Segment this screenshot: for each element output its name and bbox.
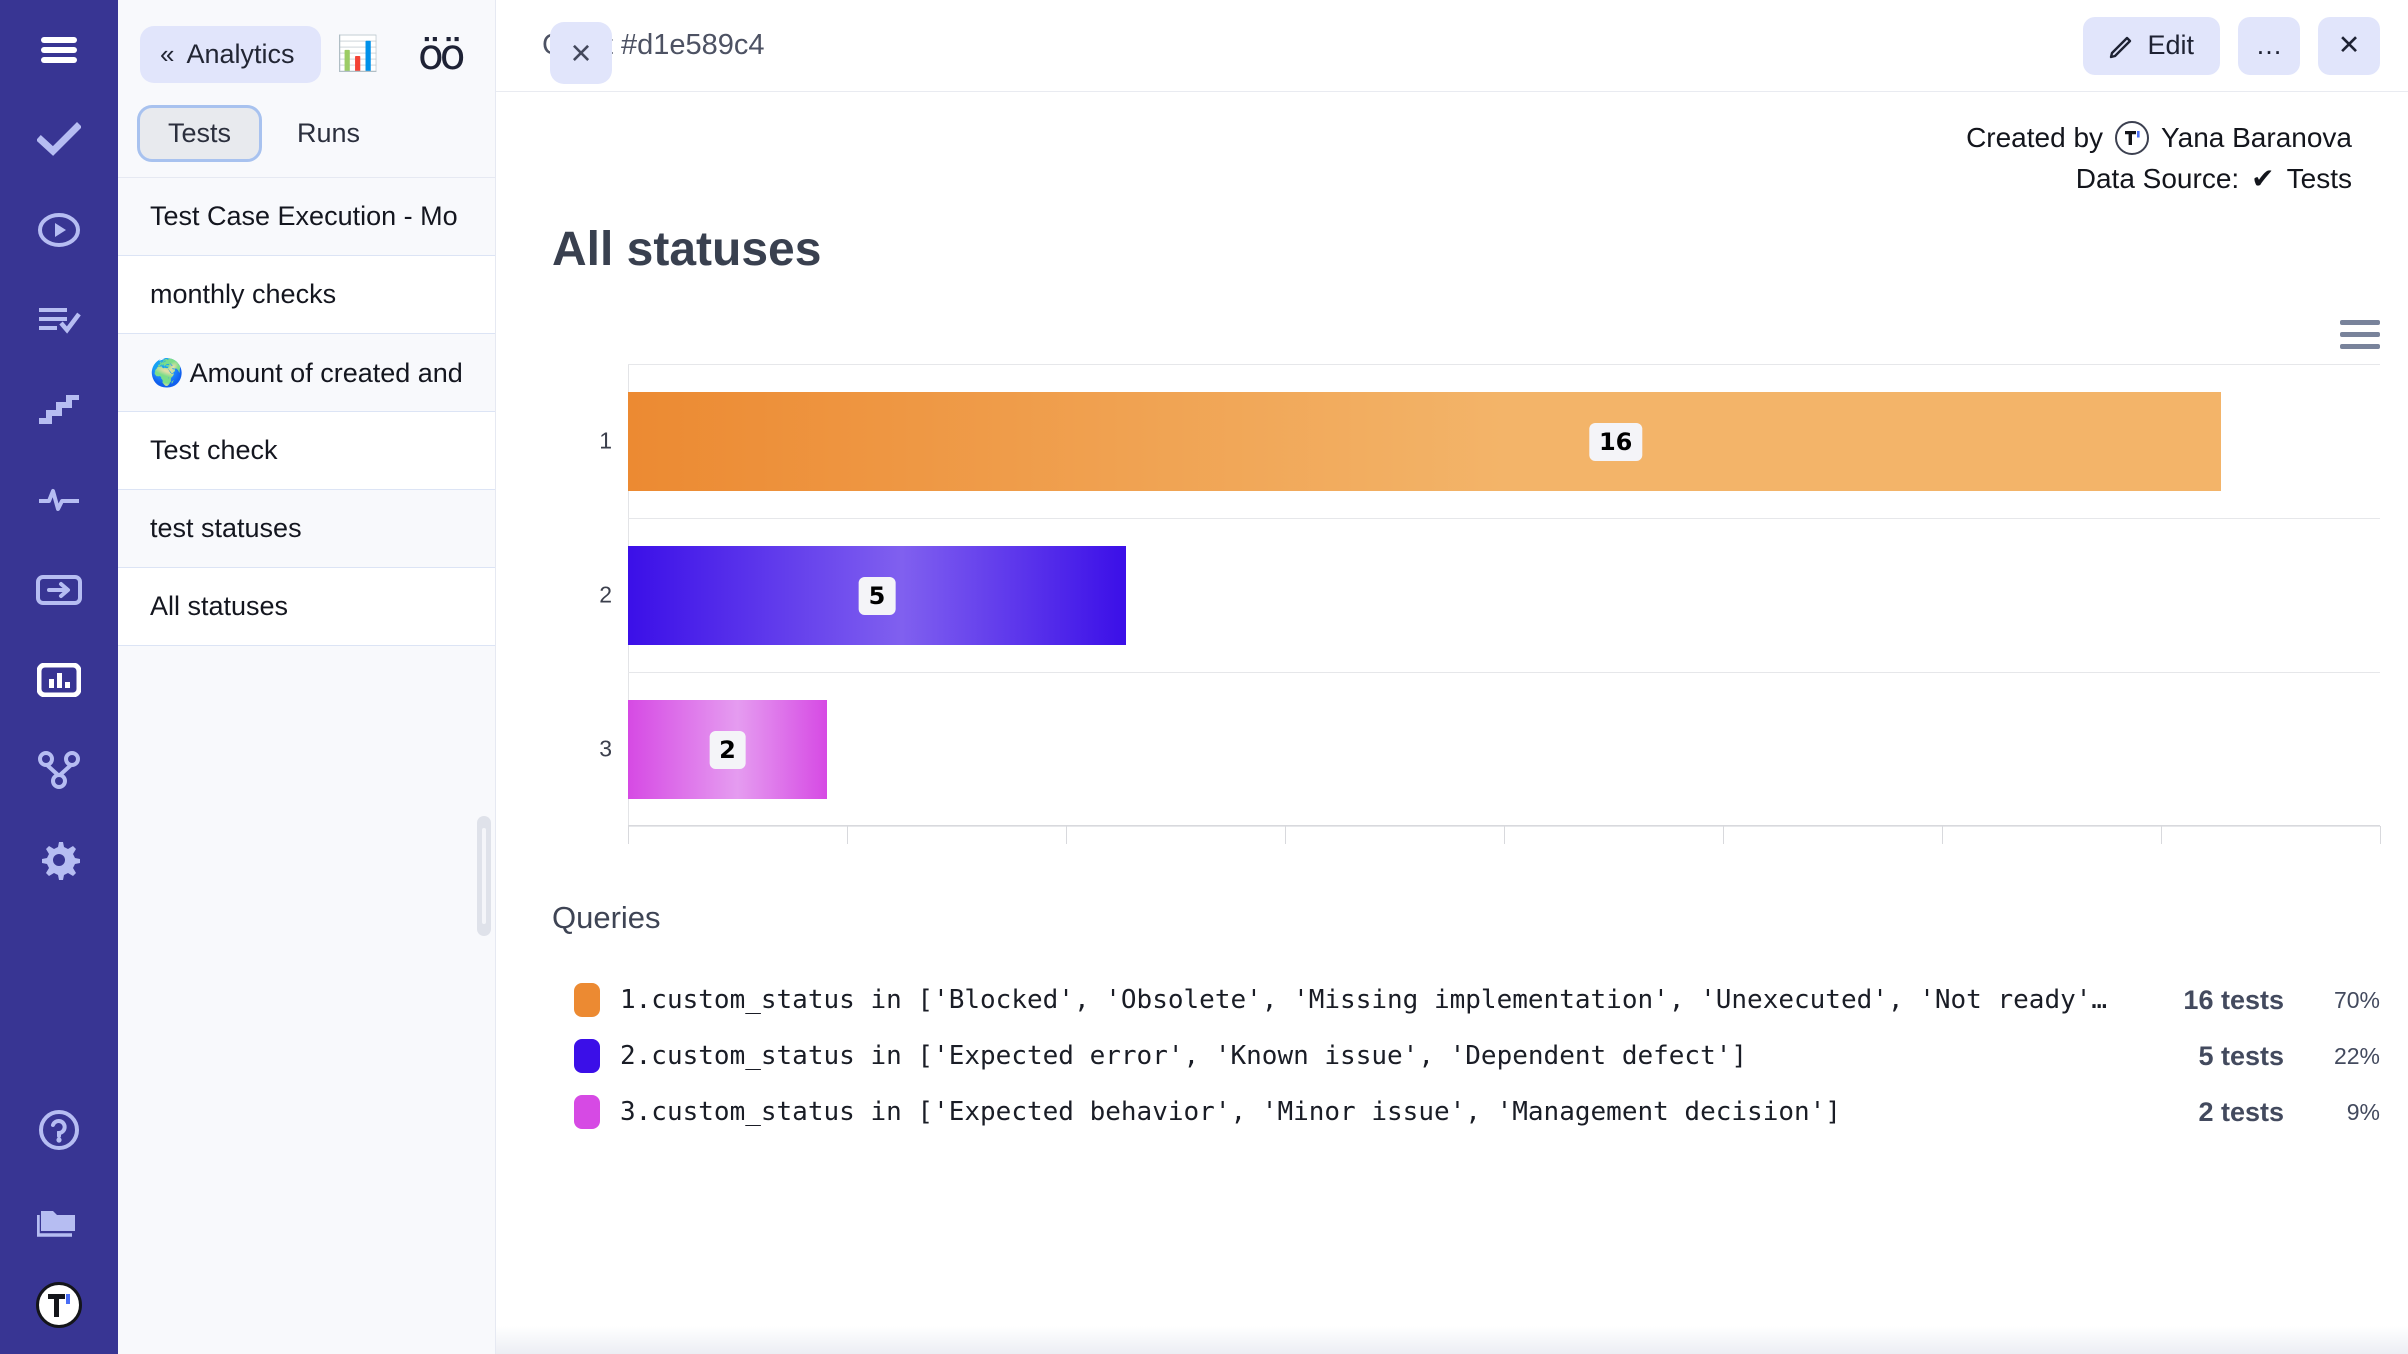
check-icon: ✔: [2251, 159, 2274, 200]
x-axis-tick: [2161, 826, 2162, 844]
queries-section: Queries 1.custom_status in ['Blocked', '…: [552, 900, 2380, 1140]
app-root: « Analytics 📊 öö × Tests Runs Test Case …: [0, 0, 2408, 1354]
list-item[interactable]: Test Case Execution - Mo: [118, 178, 495, 256]
query-percent: 9%: [2304, 1099, 2380, 1126]
tab-tests-label: Tests: [168, 118, 231, 148]
close-icon: ✕: [2338, 30, 2361, 61]
chart-header: Chart #d1e589c4 Edit … ✕: [496, 0, 2408, 92]
list-item[interactable]: test statuses: [118, 490, 495, 568]
chart-bar-value-label: 16: [1589, 423, 1642, 461]
chart-gridline: [628, 364, 2380, 365]
more-options-button[interactable]: …: [2238, 17, 2300, 75]
close-icon: ×: [570, 32, 591, 74]
hamburger-icon-line: [2340, 344, 2380, 349]
query-test-count: 16 tests: [2134, 985, 2284, 1016]
header-actions: Edit … ✕: [2083, 17, 2380, 75]
list-item-label: 🌍 Amount of created and: [150, 357, 463, 389]
list-item-label: monthly checks: [150, 279, 336, 310]
query-color-swatch: [574, 1039, 600, 1073]
x-axis-tick: [1285, 826, 1286, 844]
chart-bar[interactable]: 2: [628, 700, 827, 799]
y-axis-tick-label: 3: [552, 736, 612, 763]
chart-meta: Created by Yana Baranova Data Source: ✔ …: [552, 92, 2352, 199]
chart-plot-area: 1652: [628, 364, 2380, 826]
chart-gridline: [628, 518, 2380, 519]
query-percent: 22%: [2304, 1043, 2380, 1070]
close-panel-button[interactable]: ×: [550, 22, 612, 84]
query-expression: 1.custom_status in ['Blocked', 'Obsolete…: [620, 985, 2114, 1015]
list-item[interactable]: 🌍 Amount of created and: [118, 334, 495, 412]
list-item[interactable]: monthly checks: [118, 256, 495, 334]
close-chart-button[interactable]: ✕: [2318, 17, 2380, 75]
panel-tabs: Tests Runs: [118, 108, 495, 178]
page-title: All statuses: [552, 222, 821, 277]
query-row[interactable]: 2.custom_status in ['Expected error', 'K…: [552, 1028, 2380, 1084]
avatar[interactable]: [36, 1282, 82, 1328]
help-circle-icon[interactable]: [31, 1102, 87, 1158]
pencil-icon: [2109, 33, 2135, 59]
gear-icon[interactable]: [31, 832, 87, 888]
chart-bar-row: 5: [628, 546, 2380, 645]
edit-button[interactable]: Edit: [2083, 17, 2220, 75]
list-item[interactable]: Test check: [118, 412, 495, 490]
data-source-label: Data Source:: [2076, 159, 2239, 200]
play-circle-icon[interactable]: [31, 202, 87, 258]
hamburger-icon-line: [2340, 320, 2380, 325]
panel-scrollbar[interactable]: [477, 816, 491, 936]
tab-runs[interactable]: Runs: [269, 108, 388, 159]
chart-bar-value-label: 2: [709, 731, 746, 769]
back-to-analytics-label: Analytics: [186, 39, 294, 70]
data-source-value: Tests: [2287, 159, 2352, 200]
query-percent: 70%: [2304, 987, 2380, 1014]
panel-overlay-text: öö: [418, 30, 461, 79]
checklist-icon[interactable]: [31, 292, 87, 348]
y-axis-tick-label: 1: [552, 428, 612, 455]
query-row[interactable]: 1.custom_status in ['Blocked', 'Obsolete…: [552, 972, 2380, 1028]
query-color-swatch: [574, 1095, 600, 1129]
bar-chart-emoji-icon: 📊: [337, 37, 379, 71]
x-axis-tick: [2380, 826, 2381, 844]
bottom-fade: [496, 1326, 2408, 1354]
tab-runs-label: Runs: [297, 118, 360, 148]
branch-icon[interactable]: [31, 742, 87, 798]
double-chevron-left-icon: «: [160, 41, 172, 67]
author-avatar: [2115, 121, 2149, 155]
hamburger-icon-line: [2340, 332, 2380, 337]
x-axis-tick: [1066, 826, 1067, 844]
list-item-label: All statuses: [150, 591, 288, 622]
query-row[interactable]: 3.custom_status in ['Expected behavior',…: [552, 1084, 2380, 1140]
bar-chart: 1652 123: [552, 354, 2380, 864]
y-axis-tick-label: 2: [552, 582, 612, 609]
menu-icon[interactable]: [31, 22, 87, 78]
query-expression: 2.custom_status in ['Expected error', 'K…: [620, 1041, 2114, 1071]
chart-bar[interactable]: 16: [628, 392, 2221, 491]
sidebar-top-group: [31, 22, 87, 888]
activity-icon[interactable]: [31, 472, 87, 528]
sidebar-bottom-group: [31, 1102, 87, 1328]
analytics-icon[interactable]: [31, 652, 87, 708]
edit-button-label: Edit: [2147, 30, 2194, 61]
analytics-list[interactable]: Test Case Execution - Mo monthly checks …: [118, 178, 495, 1354]
stairs-icon[interactable]: [31, 382, 87, 438]
chart-bar[interactable]: 5: [628, 546, 1126, 645]
created-by-row: Created by Yana Baranova: [552, 118, 2352, 159]
folder-icon[interactable]: [31, 1192, 87, 1248]
panel-header: « Analytics 📊 öö ×: [118, 0, 495, 108]
chart-menu-button[interactable]: [2340, 320, 2380, 356]
query-test-count: 2 tests: [2134, 1097, 2284, 1128]
ellipsis-icon: …: [2256, 30, 2283, 61]
query-test-count: 5 tests: [2134, 1041, 2284, 1072]
list-item-label: Test check: [150, 435, 278, 466]
chart-bar-row: 2: [628, 700, 2380, 799]
list-item-label: test statuses: [150, 513, 302, 544]
created-by-label: Created by: [1966, 118, 2103, 159]
x-axis-tick: [1942, 826, 1943, 844]
query-expression: 3.custom_status in ['Expected behavior',…: [620, 1097, 2114, 1127]
list-item-selected[interactable]: All statuses: [118, 568, 495, 646]
check-icon[interactable]: [31, 112, 87, 168]
data-source-row: Data Source: ✔ Tests: [552, 159, 2352, 200]
x-axis-tick: [847, 826, 848, 844]
import-icon[interactable]: [31, 562, 87, 618]
back-to-analytics-button[interactable]: « Analytics: [140, 26, 321, 83]
chart-content: Created by Yana Baranova Data Source: ✔ …: [496, 92, 2408, 1354]
chart-detail-view: Chart #d1e589c4 Edit … ✕ Created by: [496, 0, 2408, 1354]
queries-title: Queries: [552, 900, 2380, 936]
analytics-list-panel: « Analytics 📊 öö × Tests Runs Test Case …: [118, 0, 496, 1354]
tab-tests[interactable]: Tests: [140, 108, 259, 159]
chart-bar-value-label: 5: [859, 577, 896, 615]
list-item-label: Test Case Execution - Mo: [150, 201, 458, 232]
sidebar-rail: [0, 0, 118, 1354]
chart-gridline: [628, 672, 2380, 673]
query-color-swatch: [574, 983, 600, 1017]
author-name: Yana Baranova: [2161, 118, 2352, 159]
x-axis-tick: [628, 826, 629, 844]
x-axis-tick: [1723, 826, 1724, 844]
x-axis-tick: [1504, 826, 1505, 844]
chart-bar-row: 16: [628, 392, 2380, 491]
